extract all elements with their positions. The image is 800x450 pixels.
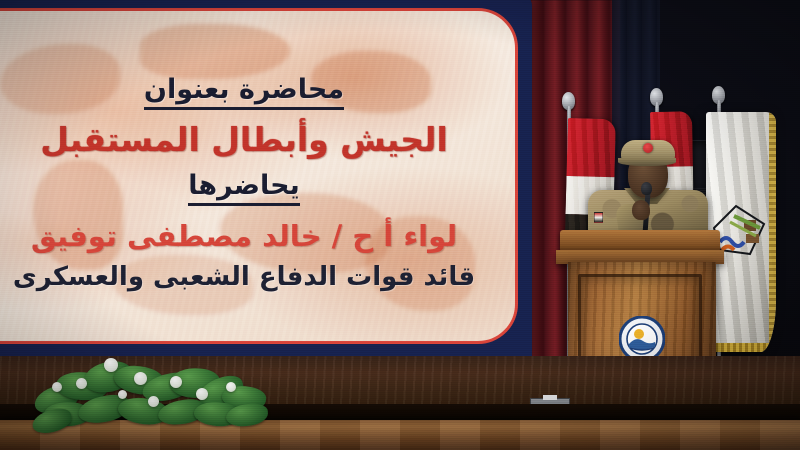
cap-badge-icon: [643, 143, 653, 153]
blossom: [226, 382, 236, 392]
floral-arrangement: [30, 352, 285, 430]
microphone-icon: [641, 182, 652, 195]
flag-shoulder-patch: [594, 212, 603, 223]
blossom: [118, 390, 127, 399]
cap-brim: [618, 158, 676, 166]
banner-line-1: محاضرة بعنوان: [144, 75, 344, 110]
blossom: [52, 382, 62, 392]
banner-line-4: لواء أ ح / خالد مصطفى توفيق: [31, 220, 457, 252]
banner-inner-frame: محاضرة بعنوان الجيش وأبطال المستقبل يحاض…: [0, 8, 518, 344]
speaker-hand: [632, 200, 650, 220]
banner-line-2: الجيش وأبطال المستقبل: [40, 122, 448, 159]
event-banner: محاضرة بعنوان الجيش وأبطال المستقبل يحاض…: [0, 0, 532, 374]
photo-scene: محاضرة بعنوان الجيش وأبطال المستقبل يحاض…: [0, 0, 800, 450]
banner-line-3: يحاضرها: [188, 171, 299, 206]
podium-desktop: [560, 230, 720, 252]
blossom: [170, 376, 182, 388]
banner-text-block: محاضرة بعنوان الجيش وأبطال المستقبل يحاض…: [0, 11, 515, 341]
blossom: [148, 396, 159, 407]
banner-line-5: قائد قوات الدفاع الشعبى والعسكرى: [13, 263, 475, 292]
blossom: [134, 372, 147, 385]
blossom: [76, 378, 87, 389]
blossom: [196, 388, 208, 400]
blossom: [104, 358, 118, 372]
